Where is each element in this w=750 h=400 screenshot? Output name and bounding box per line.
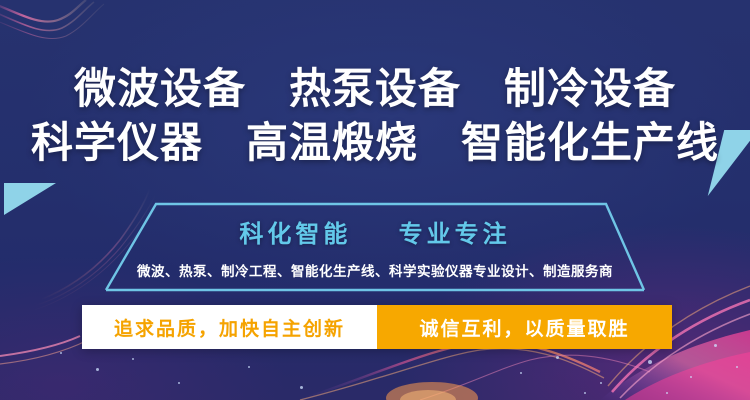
triangle-left-icon [4, 183, 56, 215]
headline-line-2-text: 科学仪器 高温煅烧 智能化生产线 [31, 119, 719, 166]
slogan-left: 追求品质，加快自主创新 [82, 305, 377, 349]
headline-line-2: 科学仪器 高温煅烧 智能化生产线 [0, 116, 750, 170]
headline: 微波设备 热泵设备 制冷设备 科学仪器 高温煅烧 智能化生产线 [0, 62, 750, 170]
headline-line-1-text: 微波设备 热泵设备 制冷设备 [74, 65, 676, 112]
slogan-right: 诚信互利，以质量取胜 [377, 305, 672, 349]
subheadline-part-2: 专业专注 [399, 221, 511, 248]
subheadline-part-1: 科化智能 [239, 221, 351, 248]
description-text: 微波、热泵、制冷工程、智能化生产线、科学实验仪器专业设计、制造服务商 [0, 262, 750, 282]
slogan-bars: 追求品质，加快自主创新 诚信互利，以质量取胜 [82, 305, 672, 349]
headline-line-1: 微波设备 热泵设备 制冷设备 [0, 62, 750, 116]
promo-banner: 微波设备 热泵设备 制冷设备 科学仪器 高温煅烧 智能化生产线 科化智能 专业专… [0, 0, 750, 400]
subheadline: 科化智能 专业专注 [0, 218, 750, 252]
